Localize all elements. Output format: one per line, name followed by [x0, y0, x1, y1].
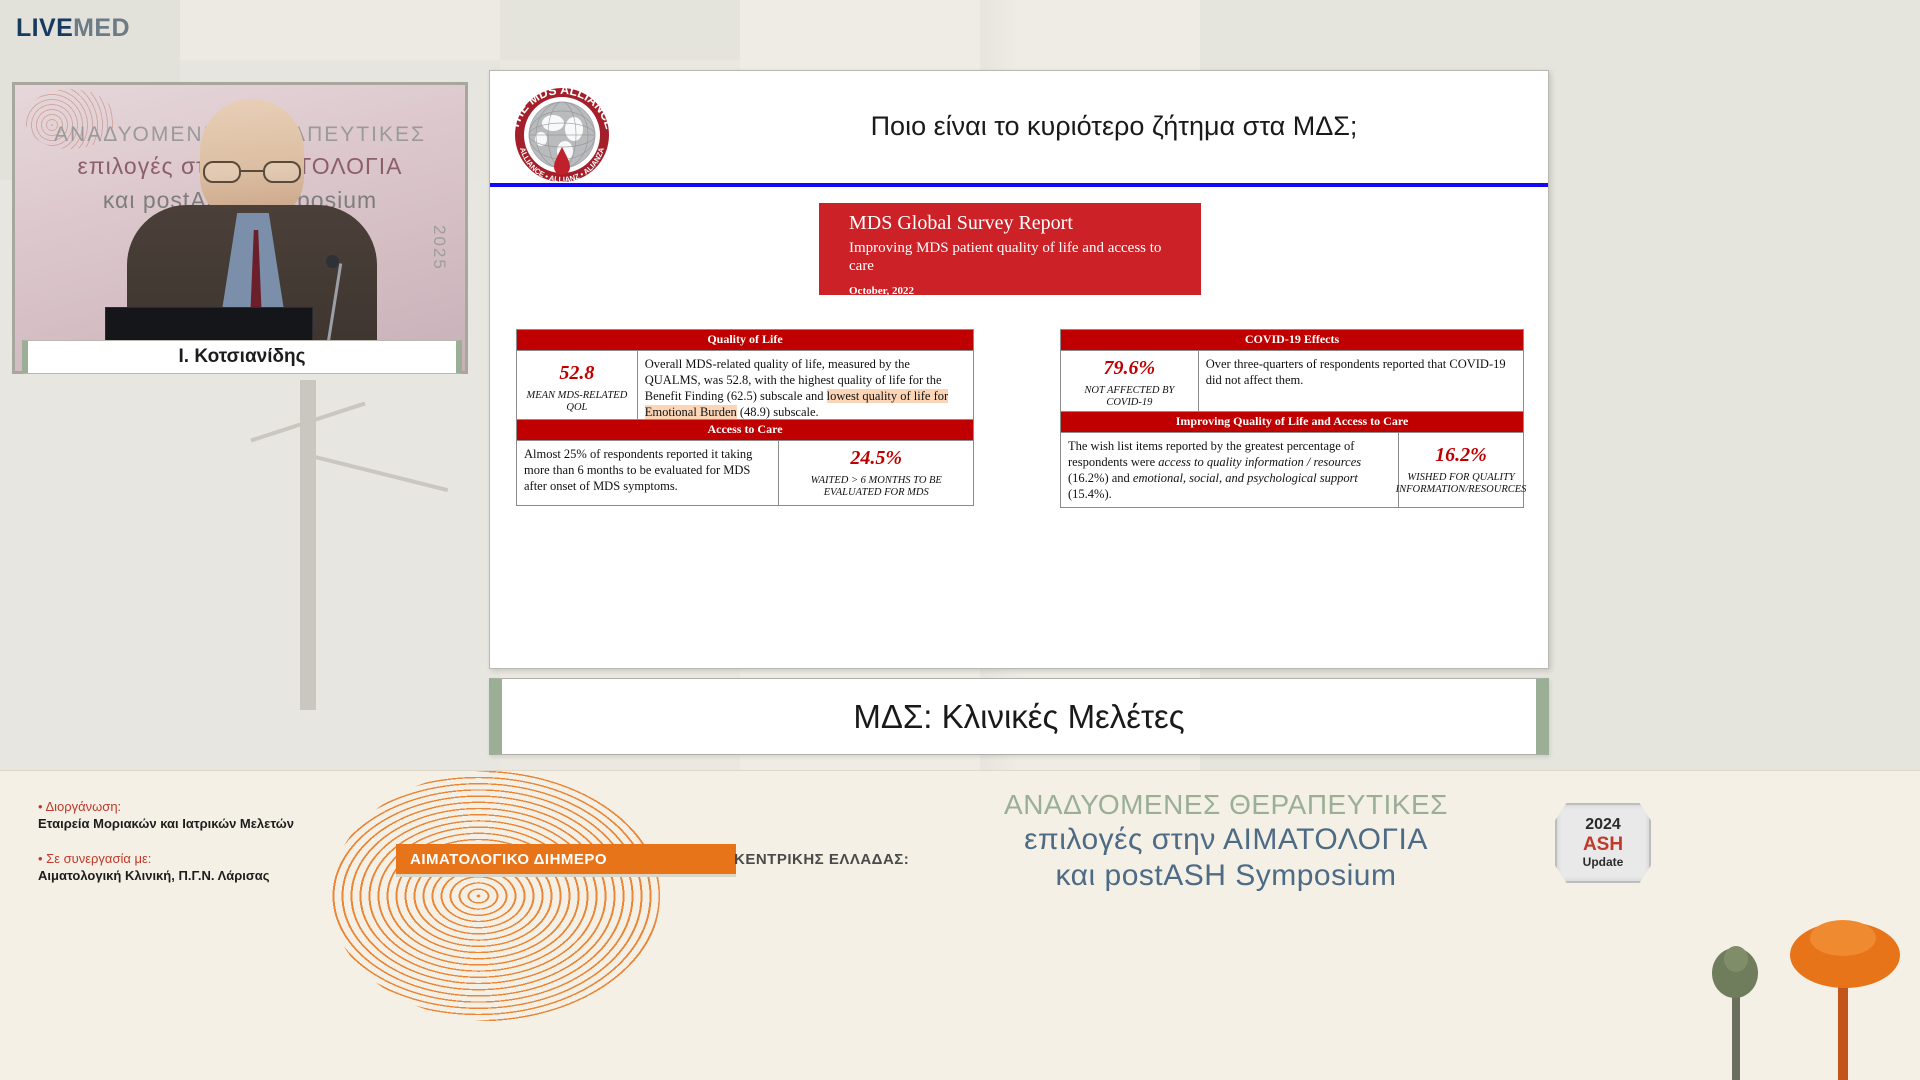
footer-tree-left-icon [1690, 950, 1780, 1080]
improve-stat-cell: 16.2% WISHED FOR QUALITY INFORMATION/RES… [1398, 433, 1523, 507]
improve-text-post: (15.4%). [1068, 487, 1112, 501]
bg-panel-3 [500, 0, 740, 60]
footer-organizers: • Διοργάνωση: Εταιρεία Μοριακών και Ιατρ… [38, 799, 294, 903]
session-title-label: ΜΔΣ: Κλινικές Μελέτες [853, 698, 1184, 736]
event-title-line-2: επιλογές στην ΑΙΜΑΤΟΛΟΓΙΑ [966, 823, 1486, 857]
access-stat-cell: 24.5% WAITED > 6 MONTHS TO BE EVALUATED … [778, 441, 973, 505]
access-text-cell: Almost 25% of respondents reported it ta… [517, 441, 778, 505]
organizer-value: Εταιρεία Μοριακών και Ιατρικών Μελετών [38, 816, 294, 831]
mds-alliance-logo-icon: THE MDS ALLIANCE ALLIANCE • ALLIANZ • AL… [503, 77, 621, 187]
background-tree-trunk [300, 380, 316, 710]
event-title-line-3: και postASH Symposium [966, 859, 1486, 893]
badge-year: 2024 [1555, 816, 1651, 834]
covid-stat-label: NOT AFFECTED BY COVID-19 [1068, 385, 1191, 410]
footer-bar-orange-text: ΑΙΜΑΤΟΛΟΓΙΚΟ ΔΙΗΜΕΡΟ [410, 851, 607, 868]
table-access-to-care: Access to Care Almost 25% of respondents… [516, 419, 974, 506]
report-banner: MDS Global Survey Report Improving MDS p… [819, 203, 1201, 295]
bg-panel-2 [180, 0, 500, 60]
session-title-banner: ΜΔΣ: Κλινικές Μελέτες [489, 678, 1549, 755]
speaker-glasses-icon [203, 161, 301, 183]
improve-stat-label: WISHED FOR QUALITY INFORMATION/RESOURCES [1396, 472, 1527, 497]
cooperation-label: • Σε συνεργασία με: [38, 851, 294, 866]
qol-text-cell: Overall MDS-related quality of life, mea… [637, 351, 973, 425]
livemed-logo[interactable]: LIVEMED [16, 14, 130, 43]
slide-header: THE MDS ALLIANCE ALLIANCE • ALLIANZ • AL… [490, 71, 1548, 184]
report-subtitle: Improving MDS patient quality of life an… [849, 239, 1179, 276]
report-title: MDS Global Survey Report [849, 212, 1201, 235]
access-stat-label: WAITED > 6 MONTHS TO BE EVALUATED FOR MD… [786, 475, 966, 500]
report-date: October, 2022 [849, 285, 1201, 297]
microphone-icon [326, 255, 339, 268]
qol-stat-cell: 52.8 MEAN MDS-RELATED QOL [517, 351, 637, 425]
ash-update-badge: 2024 ASH Update [1555, 803, 1651, 883]
speaker-video-panel[interactable]: ΑΝΑΔΥΟΜΕΝΕΣ ΘΕΡΑΠΕΥΤΙΚΕΣ επιλογές στην Α… [12, 82, 468, 374]
table-quality-of-life: Quality of Life 52.8 MEAN MDS-RELATED QO… [516, 329, 974, 426]
table-improving-qol-access: Improving Quality of Life and Access to … [1060, 411, 1524, 508]
improve-text-mid: (16.2%) and [1068, 471, 1133, 485]
improve-stat-value: 16.2% [1435, 443, 1487, 469]
speaker-name-label: Ι. Κοτσιανίδης [179, 346, 306, 368]
backdrop-side-year: 2025 [429, 225, 449, 271]
access-stat-value: 24.5% [850, 446, 902, 472]
qol-stat-label: MEAN MDS-RELATED QOL [524, 390, 630, 415]
footer-event-title: ΑΝΑΔΥΟΜΕΝΕΣ ΘΕΡΑΠΕΥΤΙΚΕΣ επιλογές στην Α… [966, 789, 1486, 893]
cooperation-value: Αιματολογική Κλινική, Π.Γ.Ν. Λάρισας [38, 868, 294, 883]
logo-live-text: LIVE [16, 14, 73, 42]
event-title-line-1: ΑΝΑΔΥΟΜΕΝΕΣ ΘΕΡΑΠΕΥΤΙΚΕΣ [966, 789, 1486, 821]
logo-med-text: MED [73, 14, 130, 42]
speaker-name-plate: Ι. Κοτσιανίδης [22, 340, 462, 374]
fingerprint-decor-icon [330, 771, 660, 1021]
badge-main-label: ASH [1555, 834, 1651, 856]
table-covid-effects: COVID-19 Effects 79.6% NOT AFFECTED BY C… [1060, 329, 1524, 416]
qol-stat-value: 52.8 [559, 361, 594, 387]
event-footer: • Διοργάνωση: Εταιρεία Μοριακών και Ιατρ… [0, 770, 1920, 1080]
table-header-quality-of-life: Quality of Life [517, 330, 973, 351]
footer-bar-dark-text: ΚΕΝΤΡΙΚΗΣ ΕΛΛΑΔΑΣ: [734, 851, 909, 868]
slide-divider-rule [490, 183, 1548, 187]
table-header-access-to-care: Access to Care [517, 420, 973, 441]
table-header-improving-qol-access: Improving Quality of Life and Access to … [1061, 412, 1523, 433]
organizer-label: • Διοργάνωση: [38, 799, 294, 814]
footer-tree-right-icon [1780, 920, 1910, 1080]
presentation-slide[interactable]: THE MDS ALLIANCE ALLIANCE • ALLIANZ • AL… [489, 70, 1549, 669]
improve-text-italic-1: access to quality information / resource… [1158, 455, 1361, 469]
covid-stat-cell: 79.6% NOT AFFECTED BY COVID-19 [1061, 351, 1198, 415]
slide-title: Ποιο είναι το κυριότερο ζήτημα στα ΜΔΣ; [710, 111, 1518, 142]
improve-text-cell: The wish list items reported by the grea… [1061, 433, 1398, 507]
improve-text-italic-2: emotional, social, and psychological sup… [1133, 471, 1358, 485]
covid-stat-value: 79.6% [1104, 356, 1156, 382]
covid-text-cell: Over three-quarters of respondents repor… [1198, 351, 1523, 415]
badge-sub-label: Update [1555, 855, 1651, 869]
table-header-covid-effects: COVID-19 Effects [1061, 330, 1523, 351]
qol-text-post: (48.9) subscale. [737, 405, 819, 419]
